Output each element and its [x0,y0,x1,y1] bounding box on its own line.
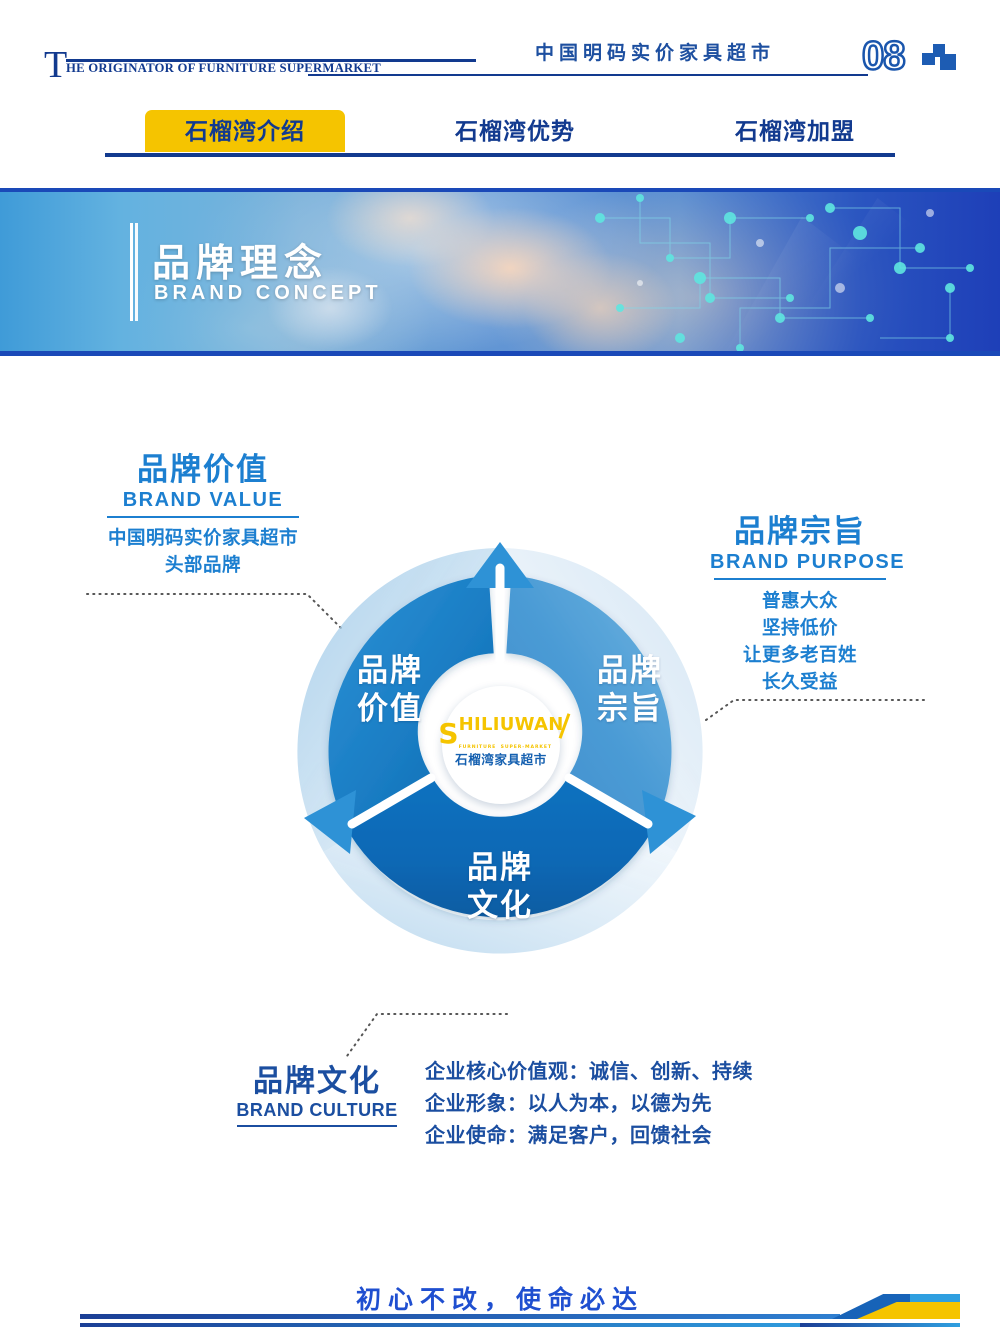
brand-purpose-line-3: 让更多老百姓 [710,641,890,668]
segment-label-brand-value: 品牌 价值 [330,652,450,728]
brand-value-title-cn: 品牌价值 [88,444,318,489]
brand-purpose-line-1: 普惠大众 [710,587,890,614]
network-graphic [580,188,1000,356]
footer-line-1 [80,1314,840,1319]
footer-shape-line [800,1323,960,1327]
header-rule-bottom [308,74,868,76]
brand-value-title-en: BRAND VALUE [88,489,318,515]
tab-franchise[interactable]: 石榴湾加盟 [700,110,890,152]
brand-culture-line-3: 企业使命：满足客户，回馈社会 [425,1120,753,1152]
logo-initial-s: S [438,722,458,746]
brand-culture-block: 品牌文化 BRAND CULTURE [232,1056,402,1127]
brand-purpose-block: 品牌宗旨 BRAND PURPOSE 普惠大众 坚持低价 让更多老百姓 长久受益 [710,506,890,695]
page-number: 08 [862,36,905,76]
brand-value-line-1: 中国明码实价家具超市 [88,524,318,551]
section-tabs: 石榴湾介绍 石榴湾优势 石榴湾加盟 [0,110,1000,170]
blocks-icon [922,44,956,74]
brand-purpose-title-cn: 品牌宗旨 [710,506,890,551]
brand-culture-line-2: 企业形象：以人为本，以德为先 [425,1088,753,1120]
brand-value-block: 品牌价值 BRAND VALUE 中国明码实价家具超市 头部品牌 [88,444,318,578]
banner-title-en: BRAND CONCEPT [154,282,382,305]
brand-culture-lines: 企业核心价值观：诚信、创新、持续 企业形象：以人为本，以德为先 企业使命：满足客… [425,1056,753,1152]
banner-accent-bars [130,223,137,321]
tabs-underline [105,153,895,157]
brand-purpose-line-4: 长久受益 [710,668,890,695]
brand-culture-divider [237,1125,397,1127]
page-root: T HE ORIGINATOR OF FURNITURE SUPERMARKET… [0,0,1000,1331]
brand-culture-title-en: BRAND CULTURE [232,1100,402,1124]
segment-label-brand-culture: 品牌 文化 [440,849,560,925]
banner-title-cn: 品牌理念 [152,232,328,287]
header-title-cn: 中国明码实价家具超市 [520,38,790,65]
logo-initial: T [44,46,67,84]
logo-wordmark: S HILIUWAN FURNITURE SUPER-MARKET [438,722,563,746]
brand-culture-title-cn: 品牌文化 [232,1056,402,1100]
banner-top-bar [0,188,1000,192]
brand-purpose-line-2: 坚持低价 [710,614,890,641]
banner-hero: 品牌理念 BRAND CONCEPT [0,188,1000,356]
tab-intro[interactable]: 石榴湾介绍 [145,110,345,152]
logo-word: HILIUWAN [459,714,564,735]
footer-shape-cyan [910,1294,960,1303]
brand-value-line-2: 头部品牌 [88,551,318,578]
brand-concept-diagram: 品牌 价值 品牌 宗旨 品牌 文化 S HILIUWAN FURNITURE S… [0,356,1000,1206]
footer-flag-shape [800,1294,960,1328]
brand-culture-line-1: 企业核心价值观：诚信、创新、持续 [425,1056,753,1088]
footer-line-2 [80,1323,840,1327]
brand-purpose-title-en: BRAND PURPOSE [710,551,890,577]
brand-value-divider [107,516,299,518]
page-header: T HE ORIGINATOR OF FURNITURE SUPERMARKET… [0,0,1000,105]
logo-sub-line1: FURNITURE [459,745,497,750]
segment-label-brand-purpose: 品牌 宗旨 [570,652,690,728]
tab-advantage[interactable]: 石榴湾优势 [420,110,610,152]
center-brand-logo: S HILIUWAN FURNITURE SUPER-MARKET 石榴湾家具超… [442,686,560,804]
logo-sub-line2: SUPER-MARKET [501,745,552,750]
page-footer: 初心不改，使命必达 [0,1266,1000,1331]
brand-purpose-divider [714,578,886,580]
